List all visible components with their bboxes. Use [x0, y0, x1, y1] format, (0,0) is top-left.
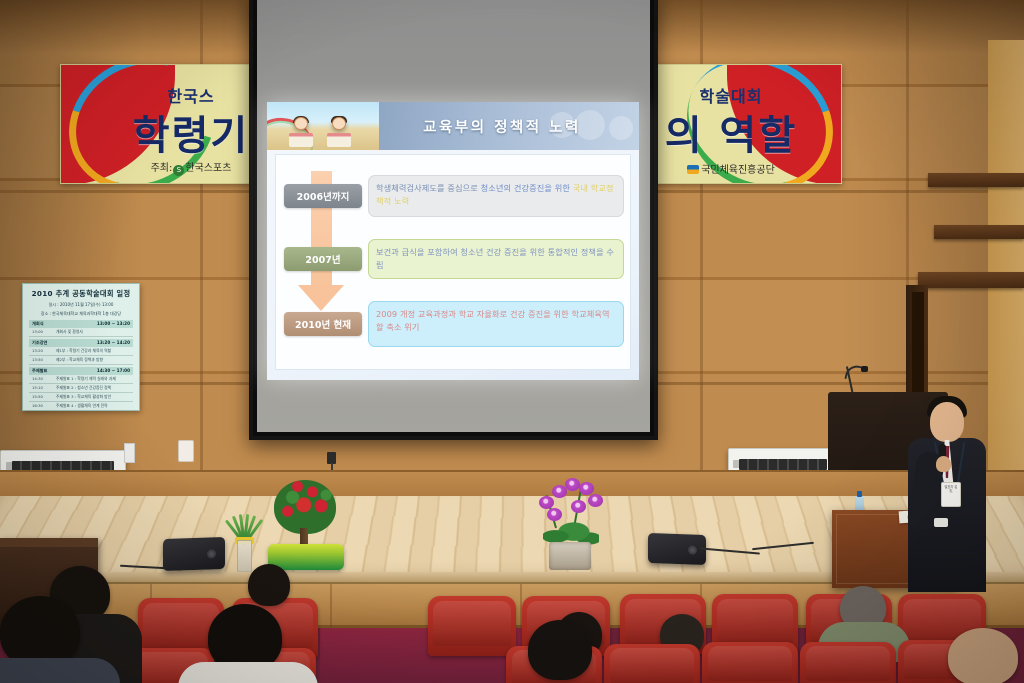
child-figure-icon: [289, 117, 313, 147]
child-head: [332, 117, 346, 130]
year-chip-2006: 2006년까지: [284, 184, 362, 208]
poster-subtitle-1: 장소 : 한국체육대학교 체육과학대학 1층 대강당: [29, 311, 133, 317]
timeline-text-2010: 2009 개정 교육과정과 학교 자율화로 건강 증진을 위한 학교체육역할 축…: [368, 301, 624, 347]
wall-shelf: [928, 173, 1024, 187]
purple-orchid-plant: [535, 476, 607, 572]
presentation-slide: 교육부의 정책적 노력 2006년까지 학생체력검사제도를 중심으로 청소년의 …: [267, 102, 639, 380]
audience-shoulders: [178, 662, 318, 683]
orchid-bloom: [539, 496, 554, 509]
child-desk: [327, 133, 351, 147]
timeline-row: 2007년 보건과 급식을 포함하여 청소년 건강 증진을 위한 통합적인 정책…: [284, 239, 624, 279]
bonsai-canopy: [274, 480, 336, 534]
wall-shelf: [918, 272, 1024, 288]
sponsor-logo-icon: [687, 165, 699, 174]
projection-screen: 교육부의 정책적 노력 2006년까지 학생체력검사제도를 중심으로 청소년의 …: [249, 0, 658, 440]
poster-row-desc: 제1부 : 학령기 건강과 체육의 역할: [56, 348, 130, 354]
timeline-row: 2010년 현재 2009 개정 교육과정과 학교 자율화로 건강 증진을 위한…: [284, 301, 624, 347]
slide-title-bar: 교육부의 정책적 노력: [379, 102, 639, 150]
poster-section-name: 기조강연: [32, 340, 47, 346]
year-chip-2007: 2007년: [284, 247, 362, 271]
orchid-basket-pot: [549, 542, 591, 570]
wall-column: [988, 40, 1024, 470]
auditorium-seat: [800, 642, 896, 683]
poster-row-time: 14:30: [32, 376, 52, 382]
grass-plant: [232, 504, 256, 572]
poster-section-time: 14:30 ~ 17:00: [97, 368, 130, 374]
poster-row-time: 13:00: [32, 329, 52, 335]
host-logo-icon: S: [173, 165, 184, 176]
presenter-hand: [936, 456, 951, 472]
presenter-person: 발표자 名札: [908, 396, 986, 592]
wall-outlet: [178, 440, 194, 462]
child-head: [294, 117, 308, 130]
poster-section-time: 13:00 ~ 13:20: [97, 321, 130, 327]
poster-row-time: 13:20: [32, 348, 52, 354]
banner-host-label: 주최:: [151, 163, 173, 174]
poster-title: 2010 추계 공동학술대회 일정: [29, 289, 133, 299]
poster-row-desc: 개회사 및 환영사: [56, 329, 130, 335]
slide-header: 교육부의 정책적 노력: [267, 102, 639, 150]
ac-louver: [739, 459, 828, 470]
decorative-bubble: [609, 116, 633, 140]
poster-row: 15:50 주제발표 3 : 학교체육 활성화 방안: [29, 393, 133, 402]
stage-monitor-speaker-right: [648, 533, 706, 565]
poster-row-desc: 주제발표 4 : 생활체육 연계 전략: [56, 403, 130, 409]
presenter-cuff: [934, 518, 948, 527]
poster-section-name: 주제발표: [32, 368, 47, 374]
timeline-text-2006: 학생체력검사제도를 중심으로 청소년의 건강증진을 위한 국내 학교정책적 노력: [368, 175, 624, 217]
poster-section-time: 13:20 ~ 14:20: [97, 340, 130, 346]
slide-body: 2006년까지 학생체력검사제도를 중심으로 청소년의 건강증진을 위한 국내 …: [275, 154, 631, 370]
year-chip-2010: 2010년 현재: [284, 312, 362, 336]
banner-host-name: 한국스포츠: [185, 163, 231, 174]
presenter-head: [930, 402, 964, 442]
poster-row-desc: 주제발표 3 : 학교체육 활성화 방안: [56, 394, 130, 400]
text-segment: 학생체력검사제도를 중심으로: [376, 183, 481, 193]
name-badge: 발표자 名札: [941, 482, 961, 507]
auditorium-seat: [604, 644, 700, 683]
conference-room-scene: 한국스 학령기 주최:S한국스포츠 학술대회 의 역할 국민체육진흥공단 201…: [0, 0, 1024, 683]
audience-shoulders: [0, 658, 120, 683]
bottle-cap: [857, 491, 862, 497]
audience-head-foreground: [948, 628, 1018, 683]
poster-row: 14:30 주제발표 1 : 학령기 체력 실태와 과제: [29, 375, 133, 384]
poster-row-time: 15:10: [32, 385, 52, 391]
timeline-text-2007: 보건과 급식을 포함하여 청소년 건강 증진을 위한 통합적인 정책을 수립: [368, 239, 624, 279]
schedule-poster: 2010 추계 공동학술대회 일정 일시 : 2010년 11월 17일(수) …: [22, 283, 140, 411]
slide-title: 교육부의 정책적 노력: [423, 116, 581, 137]
poster-row: 13:50 제2부 : 학교체육 정책과 방향: [29, 356, 133, 365]
poster-section-header: 개회식 13:00 ~ 13:20: [29, 320, 133, 328]
poster-row-desc: 제2부 : 학교체육 정책과 방향: [56, 357, 130, 363]
poster-row-time: 15:50: [32, 394, 52, 400]
sponsor-name: 국민체육진흥공단: [701, 165, 775, 176]
auditorium-seat: [702, 642, 798, 683]
orchid-bloom: [571, 500, 586, 513]
poster-row-time: 13:50: [32, 357, 52, 363]
children-rainbow-clipart-icon: [267, 102, 379, 150]
plant-vase: [237, 540, 252, 572]
poster-row-desc: 주제발표 2 : 청소년 건강증진 정책: [56, 385, 130, 391]
cabinet-top: [0, 538, 98, 547]
timeline-row: 2006년까지 학생체력검사제도를 중심으로 청소년의 건강증진을 위한 국내 …: [284, 175, 624, 217]
audience-head-foreground: [528, 620, 592, 680]
poster-row: 16:30 주제발표 4 : 생활체육 연계 전략: [29, 402, 133, 411]
audience-head: [248, 564, 290, 606]
poster-row-desc: 주제발표 1 : 학령기 체력 실태와 과제: [56, 376, 130, 382]
poster-row: 13:00 개회사 및 환영사: [29, 328, 133, 337]
wall-shelf: [934, 225, 1024, 239]
child-desk: [289, 133, 313, 147]
microphone-head: [861, 366, 868, 372]
stage-monitor-speaker-left: [163, 537, 225, 571]
poster-subtitle-0: 일시 : 2010년 11월 17일(수) 13:00: [29, 302, 133, 308]
text-segment-highlight: 청소년의 건강증진을 위한: [481, 183, 573, 193]
poster-row: 15:10 주제발표 2 : 청소년 건강증진 정책: [29, 384, 133, 393]
orchid-bloom: [588, 494, 603, 507]
auditorium-seat: [428, 596, 516, 656]
poster-section-header: 기조강연 13:20 ~ 14:20: [29, 339, 133, 347]
poster-section-name: 개회식: [32, 321, 44, 327]
poster-row-time: 16:30: [32, 403, 52, 409]
child-figure-icon: [327, 117, 351, 147]
poster-section-header: 주제발표 14:30 ~ 17:00: [29, 367, 133, 375]
ac-pipe: [124, 443, 135, 463]
skirt-panel-line: [330, 584, 332, 628]
red-flower-bonsai: [272, 480, 338, 572]
orchid-bloom: [565, 478, 580, 491]
orchid-bloom: [579, 482, 594, 495]
poster-row: 13:20 제1부 : 학령기 건강과 체육의 역할: [29, 347, 133, 356]
